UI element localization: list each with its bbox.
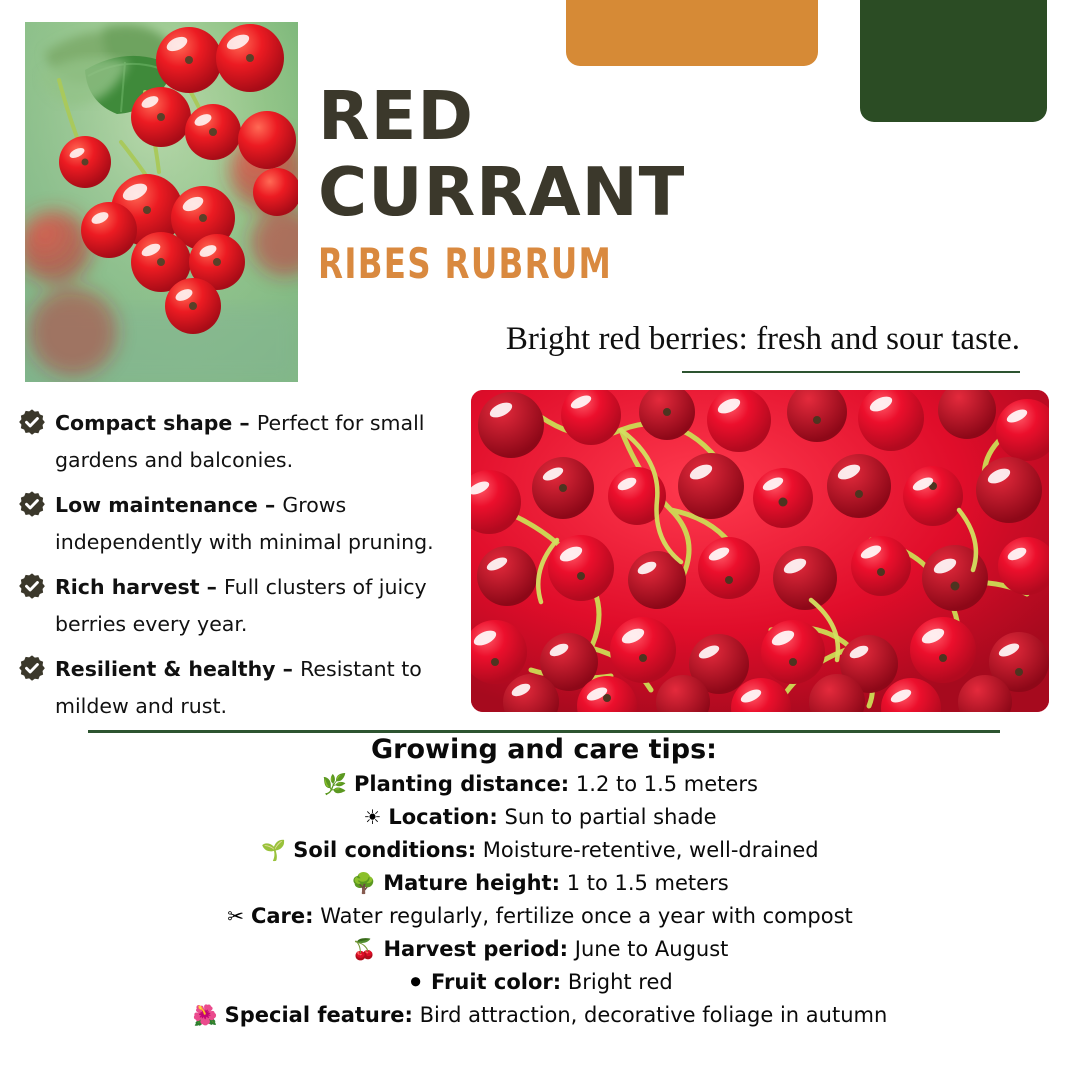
cherries-icon: 🍒 xyxy=(352,933,377,966)
tip-text: Fruit color: Bright red xyxy=(431,966,673,999)
benefit-text: Rich harvest – Full clusters of juicy be… xyxy=(55,569,458,642)
list-item: 🌺 Special feature: Bird attraction, deco… xyxy=(40,999,1040,1032)
tip-value: Water regularly, fertilize once a year w… xyxy=(320,904,853,928)
tip-text: Soil conditions: Moisture-retentive, wel… xyxy=(293,834,818,867)
tip-text: Care: Water regularly, fertilize once a … xyxy=(251,900,853,933)
tip-text: Planting distance: 1.2 to 1.5 meters xyxy=(354,768,758,801)
list-item: 🍒 Harvest period: June to August xyxy=(40,933,1040,966)
hibiscus-icon: 🌺 xyxy=(193,999,218,1032)
tip-label: Fruit color: xyxy=(431,970,561,994)
tip-value: Bird attraction, decorative foliage in a… xyxy=(420,1003,888,1027)
benefit-dash: – xyxy=(200,575,225,599)
benefit-text: Compact shape – Perfect for small garden… xyxy=(55,405,458,478)
decorative-block-orange xyxy=(566,0,818,66)
benefit-label: Compact shape xyxy=(55,411,232,435)
benefit-text: Low maintenance – Grows independently wi… xyxy=(55,487,458,560)
benefits-list: Compact shape – Perfect for small garden… xyxy=(18,405,458,733)
tip-text: Special feature: Bird attraction, decora… xyxy=(225,999,888,1032)
list-item: ✂ Care: Water regularly, fertilize once … xyxy=(40,900,1040,933)
page-title: RED CURRANT RIBES RUBRUM xyxy=(318,78,1018,288)
tip-label: Special feature: xyxy=(225,1003,413,1027)
tip-value: 1.2 to 1.5 meters xyxy=(576,772,758,796)
berries-photo-image xyxy=(471,390,1049,712)
check-badge-icon xyxy=(18,654,46,687)
tagline-text: Bright red berries: fresh and sour taste… xyxy=(400,318,1020,360)
benefit-label: Rich harvest xyxy=(55,575,200,599)
check-badge-icon xyxy=(18,572,46,605)
list-item: Resilient & healthy – Resistant to milde… xyxy=(18,651,458,724)
benefit-label: Resilient & healthy xyxy=(55,657,276,681)
list-item: ☀ Location: Sun to partial shade xyxy=(40,801,1040,834)
seedling-icon: 🌱 xyxy=(261,834,286,867)
check-badge-icon xyxy=(18,490,46,523)
list-item: 🌱 Soil conditions: Moisture-retentive, w… xyxy=(40,834,1040,867)
check-badge-icon xyxy=(18,408,46,441)
latin-name-subtitle: RIBES RUBRUM xyxy=(318,240,920,288)
list-item: Low maintenance – Grows independently wi… xyxy=(18,487,458,560)
tip-value: 1 to 1.5 meters xyxy=(567,871,729,895)
tip-label: Planting distance: xyxy=(354,772,569,796)
list-item: Compact shape – Perfect for small garden… xyxy=(18,405,458,478)
tip-text: Location: Sun to partial shade xyxy=(388,801,716,834)
list-item: Rich harvest – Full clusters of juicy be… xyxy=(18,569,458,642)
circle-icon: ⚫ xyxy=(407,966,424,999)
berries-photo xyxy=(471,390,1049,712)
list-item: 🌿 Planting distance: 1.2 to 1.5 meters xyxy=(40,768,1040,801)
benefit-label: Low maintenance xyxy=(55,493,258,517)
tip-label: Location: xyxy=(388,805,497,829)
benefit-dash: – xyxy=(258,493,283,517)
scissors-icon: ✂ xyxy=(227,900,244,933)
tip-value: Bright red xyxy=(568,970,673,994)
tip-label: Soil conditions: xyxy=(293,838,476,862)
tip-label: Care: xyxy=(251,904,314,928)
hero-photo-currant-branch xyxy=(25,22,298,382)
tip-value: Sun to partial shade xyxy=(505,805,717,829)
list-item: ⚫ Fruit color: Bright red xyxy=(40,966,1040,999)
list-item: 🌳 Mature height: 1 to 1.5 meters xyxy=(40,867,1040,900)
tip-value: Moisture-retentive, well-drained xyxy=(483,838,819,862)
title-line-1: RED xyxy=(318,78,1018,154)
sun-icon: ☀ xyxy=(363,801,381,834)
herb-icon: 🌿 xyxy=(322,768,347,801)
tagline-underline xyxy=(682,371,1020,373)
tip-text: Mature height: 1 to 1.5 meters xyxy=(383,867,728,900)
benefit-dash: – xyxy=(276,657,301,681)
tips-heading: Growing and care tips: xyxy=(88,733,1000,767)
tips-list: 🌿 Planting distance: 1.2 to 1.5 meters ☀… xyxy=(40,768,1040,1032)
title-line-2: CURRANT xyxy=(318,154,1018,230)
tip-text: Harvest period: June to August xyxy=(383,933,728,966)
tree-icon: 🌳 xyxy=(351,867,376,900)
tip-label: Harvest period: xyxy=(383,937,568,961)
tagline-block: Bright red berries: fresh and sour taste… xyxy=(400,318,1020,373)
tip-label: Mature height: xyxy=(383,871,560,895)
hero-photo-image xyxy=(25,22,298,382)
benefit-dash: – xyxy=(232,411,257,435)
benefit-text: Resilient & healthy – Resistant to milde… xyxy=(55,651,458,724)
tip-value: June to August xyxy=(575,937,729,961)
